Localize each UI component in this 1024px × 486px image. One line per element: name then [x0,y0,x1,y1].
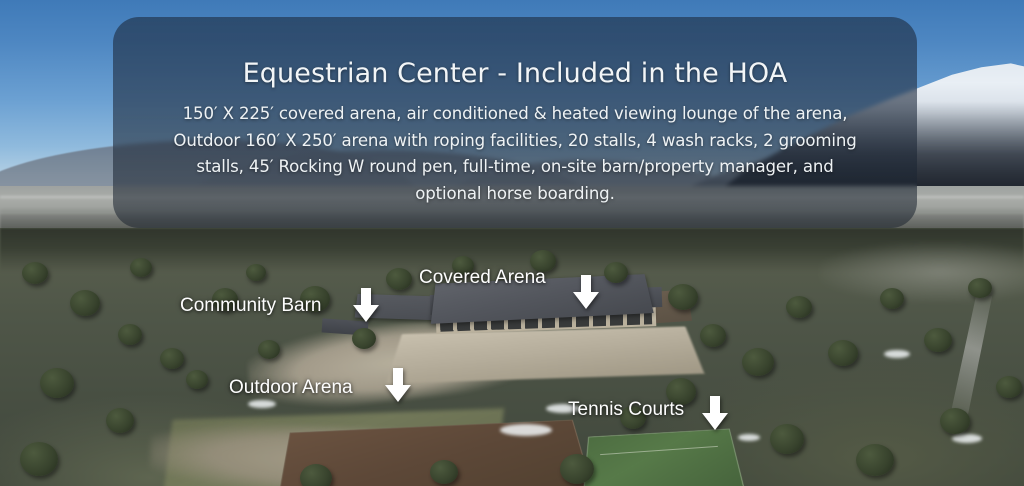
tree [130,258,152,277]
tree [996,376,1022,398]
annotation-label-community-barn: Community Barn [180,296,322,315]
snow-patch [884,350,910,358]
tree [186,370,208,389]
tree [22,262,48,284]
tree [40,368,74,398]
tree [352,328,376,349]
tree [160,348,184,369]
snow-patch [738,434,760,441]
tree [924,328,952,352]
tree [386,268,412,290]
annotation-label-covered-arena: Covered Arena [419,268,546,287]
card-description: 150′ X 225′ covered arena, air condition… [155,101,875,209]
tree [700,324,726,347]
tree [828,340,858,366]
info-card: Equestrian Center - Included in the HOA … [113,17,917,228]
open-ground-patch-right [820,242,1024,302]
tree [106,408,134,433]
tree [70,290,100,316]
tennis-courts-area [582,429,745,486]
tree [258,340,280,359]
card-title: Equestrian Center - Included in the HOA [155,59,875,89]
tree [940,408,970,434]
tree [604,262,628,283]
down-arrow-icon-outdoor-arena [385,368,411,402]
tree [770,424,804,454]
tree [118,324,142,345]
tree [300,464,332,486]
tree [856,444,894,476]
screenshot-root: Equestrian Center - Included in the HOA … [0,0,1024,486]
down-arrow-icon-tennis-courts [702,396,728,430]
tree [742,348,774,376]
down-arrow-icon-covered-arena [573,275,599,309]
tree [20,442,58,476]
tree [668,284,698,310]
tree [968,278,992,298]
snow-patch [952,434,982,443]
down-arrow-icon-community-barn [353,288,379,322]
snow-patch [248,400,276,408]
snow-patch [500,424,552,436]
tree [430,460,458,484]
tree [560,454,594,484]
annotation-label-tennis-courts: Tennis Courts [568,400,684,419]
tree [786,296,812,318]
tree [246,264,266,281]
parking-apron [386,326,704,383]
tree [880,288,904,309]
annotation-label-outdoor-arena: Outdoor Arena [229,378,353,397]
